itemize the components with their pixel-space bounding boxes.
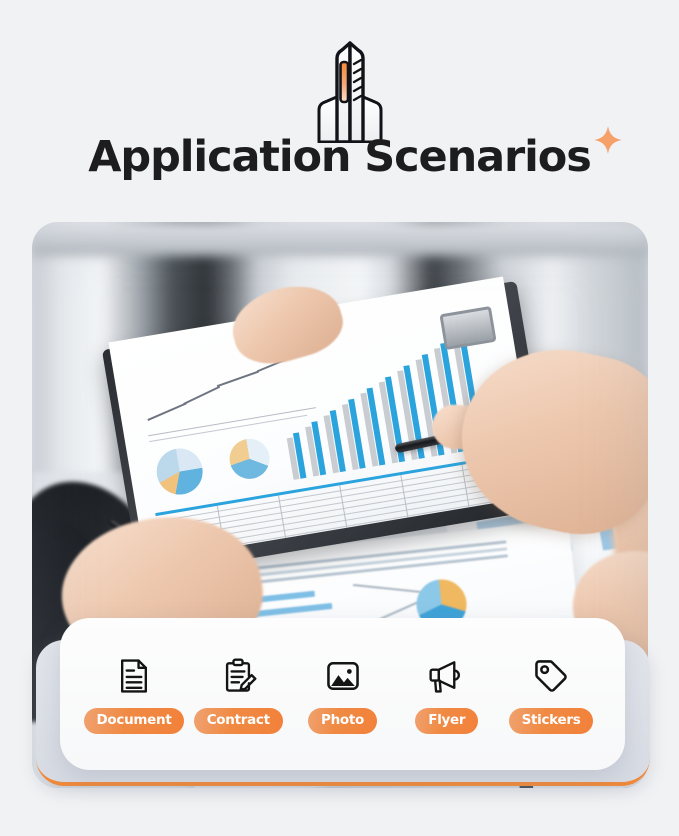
- page-header: Application Scenarios: [0, 0, 679, 212]
- sparkle-icon: [593, 116, 623, 146]
- page-title-row: Application Scenarios: [0, 132, 679, 182]
- document-icon: [112, 654, 156, 698]
- category-label-contract[interactable]: Contract: [194, 708, 283, 734]
- category-item-document[interactable]: Document: [82, 654, 186, 734]
- category-label-stickers[interactable]: Stickers: [509, 708, 594, 734]
- category-item-flyer[interactable]: Flyer: [395, 654, 499, 734]
- category-label-photo[interactable]: Photo: [308, 708, 377, 734]
- megaphone-icon: [425, 654, 469, 698]
- category-item-stickers[interactable]: Stickers: [499, 654, 603, 734]
- category-panel: Document Contract Photo: [60, 618, 625, 770]
- category-item-photo[interactable]: Photo: [291, 654, 395, 734]
- photo-background-ceiling: [32, 222, 648, 256]
- page-title: Application Scenarios: [88, 132, 590, 182]
- category-label-flyer[interactable]: Flyer: [415, 708, 478, 734]
- category-label-document[interactable]: Document: [84, 708, 185, 734]
- page-title-text: Application Scenarios: [88, 132, 590, 182]
- category-item-contract[interactable]: Contract: [186, 654, 290, 734]
- image-icon: [321, 654, 365, 698]
- building-icon: [295, 38, 405, 143]
- clipboard-pencil-icon: [216, 654, 260, 698]
- tag-icon: [529, 654, 573, 698]
